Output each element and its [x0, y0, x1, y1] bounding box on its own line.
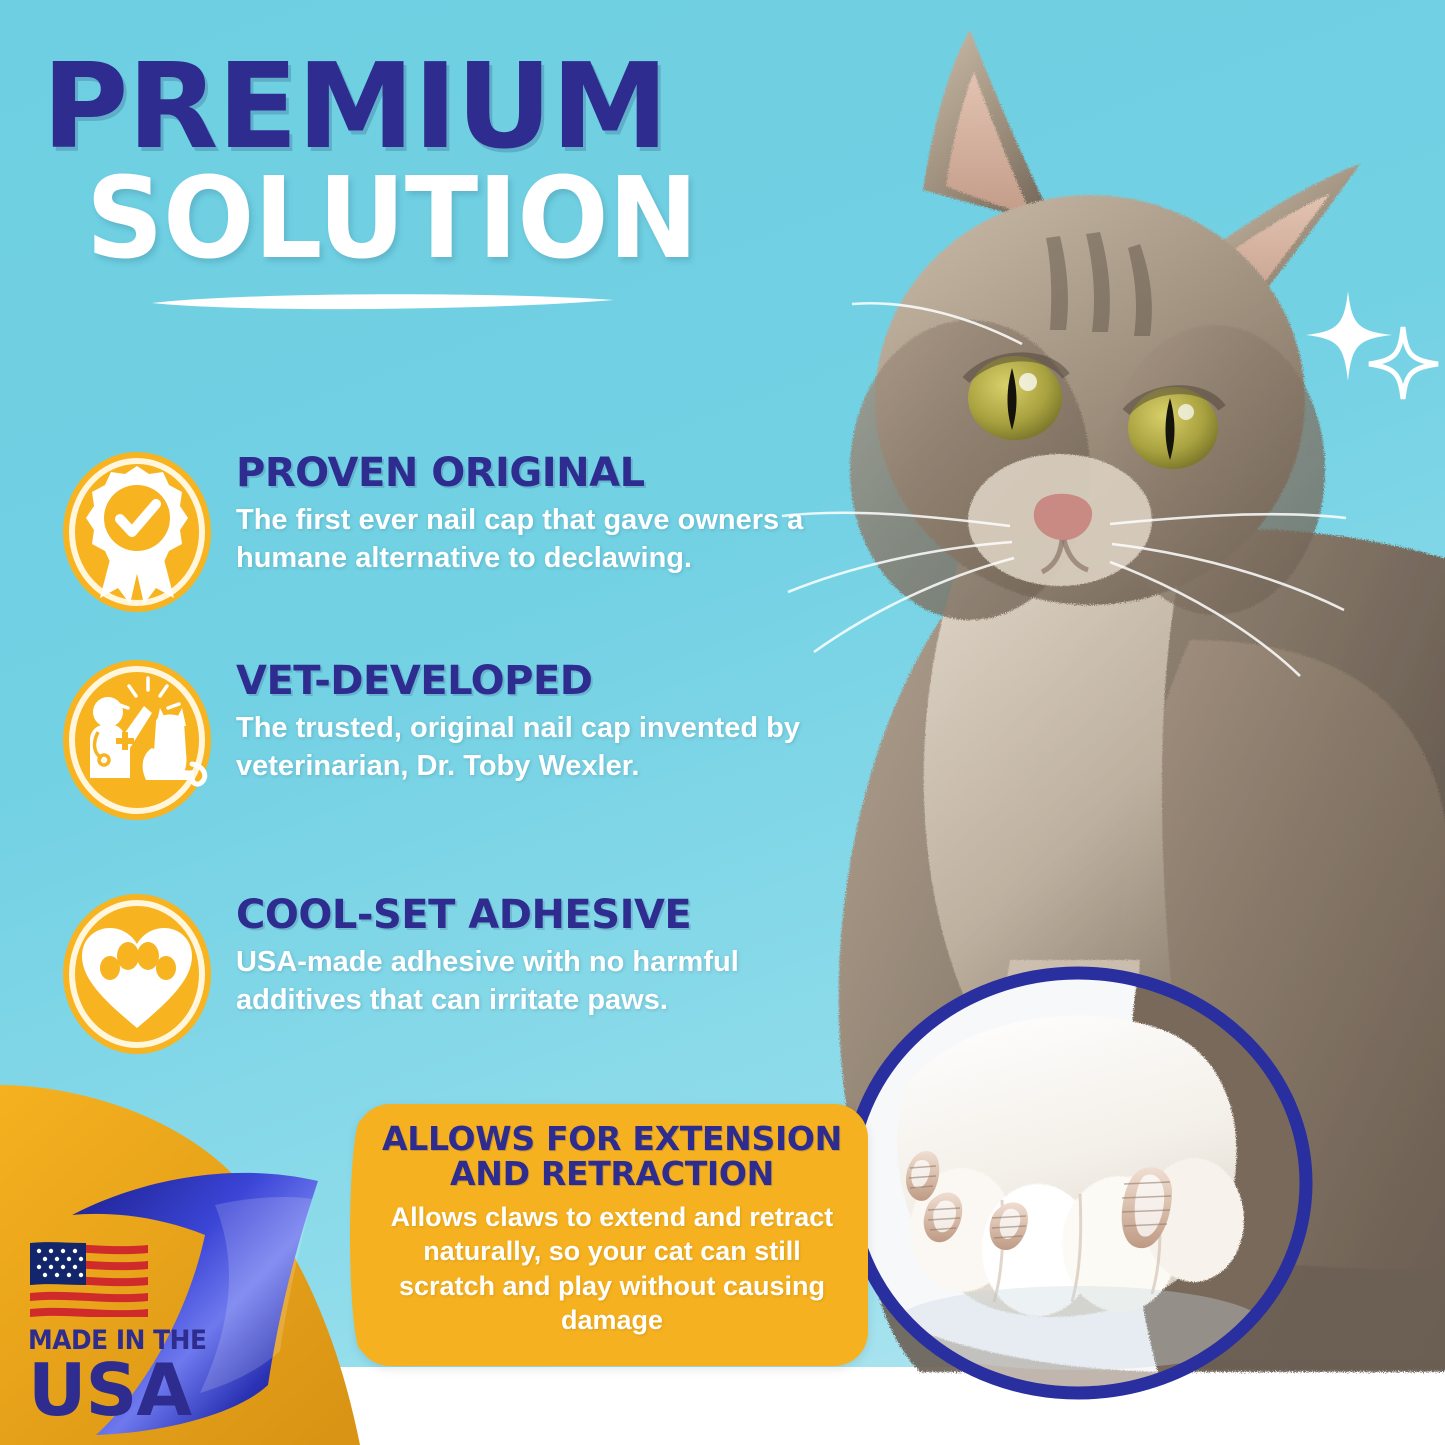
callout-title-line1: ALLOWS FOR EXTENSION: [378, 1122, 846, 1157]
product-infographic-poster: PREMIUM SOLUTION: [0, 0, 1445, 1445]
made-in-the-label: MADE IN THE: [28, 1327, 240, 1354]
award-ribbon-check-icon: [56, 448, 218, 616]
feature-item-cool-set-adhesive: COOL-SET ADHESIVE USA-made adhesive with…: [56, 886, 816, 1058]
headline-block: PREMIUM SOLUTION: [42, 52, 822, 272]
feature-title: VET-DEVELOPED: [236, 660, 816, 702]
features-list: PROVEN ORIGINAL The first ever nail cap …: [56, 444, 816, 1092]
feature-item-vet-developed: VET-DEVELOPED The trusted, original nail…: [56, 652, 816, 824]
feature-body: The trusted, original nail cap invented …: [236, 710, 816, 785]
feature-body: USA-made adhesive with no harmful additi…: [236, 944, 816, 1019]
feature-title: COOL-SET ADHESIVE: [236, 894, 816, 936]
usa-flag-icon: [28, 1241, 150, 1317]
feature-text-block: VET-DEVELOPED The trusted, original nail…: [236, 652, 816, 785]
white-swoosh-underline: [148, 290, 618, 312]
feature-text-block: COOL-SET ADHESIVE USA-made adhesive with…: [236, 886, 816, 1019]
callout-title-line2: AND RETRACTION: [378, 1157, 846, 1192]
feature-body: The first ever nail cap that gave owners…: [236, 502, 816, 577]
feature-text-block: PROVEN ORIGINAL The first ever nail cap …: [236, 444, 816, 577]
callout-title: ALLOWS FOR EXTENSION AND RETRACTION: [378, 1122, 846, 1192]
feature-item-proven-original: PROVEN ORIGINAL The first ever nail cap …: [56, 444, 816, 616]
cat-paw-closeup-magnifier: [838, 962, 1318, 1404]
vet-high-five-cat-icon: [56, 656, 218, 824]
callout-body: Allows claws to extend and retract natur…: [378, 1200, 846, 1337]
feature-title: PROVEN ORIGINAL: [236, 452, 816, 494]
made-in-usa-badge: MADE IN THE USA: [28, 1241, 258, 1425]
callout-extension-retraction: ALLOWS FOR EXTENSION AND RETRACTION Allo…: [356, 1104, 868, 1366]
usa-label: USA: [28, 1356, 258, 1425]
headline-solution: SOLUTION: [86, 166, 793, 272]
headline-premium: PREMIUM: [42, 52, 822, 162]
heart-paw-icon: [56, 890, 218, 1058]
